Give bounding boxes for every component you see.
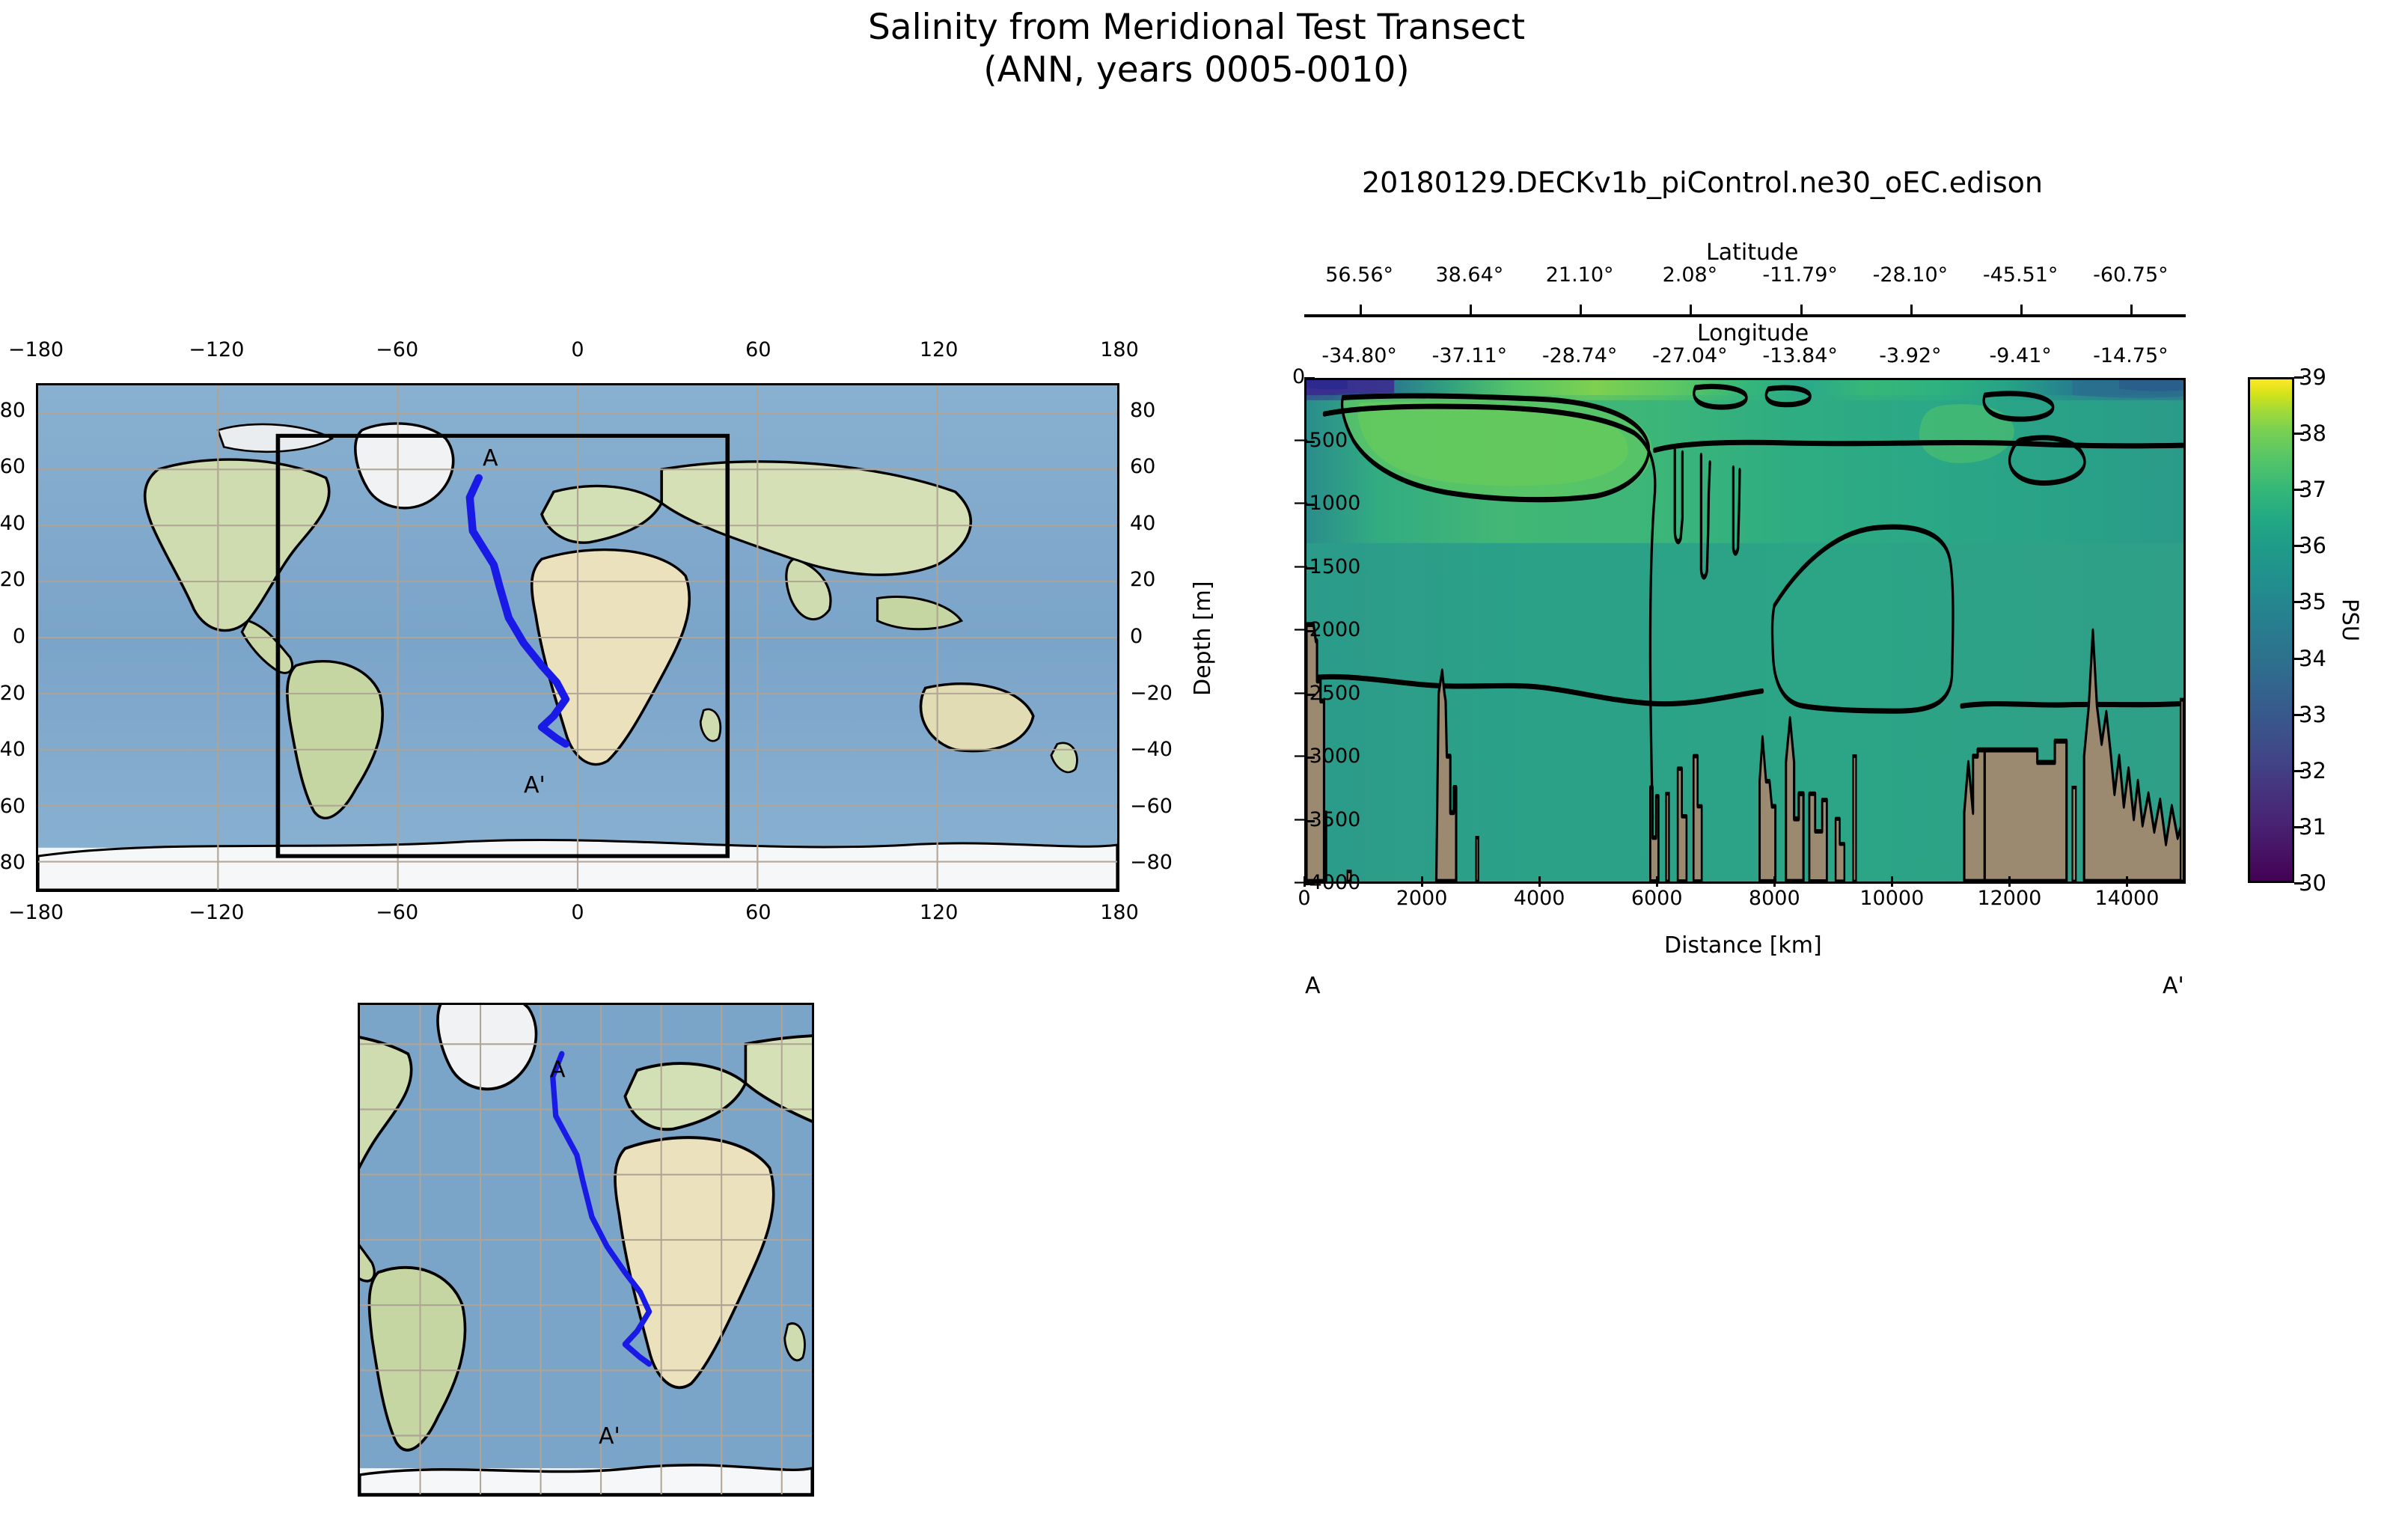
global-map-canvas [38, 385, 1117, 890]
distance-tick: 8000 [1749, 887, 1800, 910]
map-lon-tick-top: −120 [189, 338, 244, 361]
map-lon-tick-top: 120 [920, 338, 959, 361]
global-map-graphic [38, 385, 1117, 890]
tick-mark [1304, 876, 1306, 887]
map-lat-tick-right: −60 [1130, 795, 1173, 818]
colorbar-tick-mark [2294, 601, 2304, 603]
r: −3000 [1292, 745, 1360, 768]
colorbar-tick-mark [2294, 376, 2304, 379]
regional-map-canvas [360, 1005, 812, 1494]
regional-map-graphic [360, 1005, 812, 1494]
latitude-tick: 21.10° [1546, 263, 1614, 287]
inset-transect-start-label: A [550, 1057, 566, 1083]
section-start-label: A [1305, 973, 1321, 999]
map-lon-tick-bottom: 0 [571, 901, 584, 924]
map-lon-tick-top: −180 [8, 338, 64, 361]
cross-section-axes[interactable] [1304, 378, 2186, 884]
map-lat-tick-left: 20 [0, 568, 25, 591]
latitude-tick: 2.08° [1663, 263, 1718, 287]
map-lon-tick-top: 0 [571, 338, 584, 361]
map-lat-tick-left: 80 [0, 399, 25, 422]
r: −2500 [1292, 682, 1360, 705]
distance-tick: 14000 [2095, 887, 2160, 910]
map-transect-end-label: A' [524, 772, 545, 798]
regional-map-axes[interactable] [358, 1003, 814, 1497]
distance-tick: 12000 [1977, 887, 2041, 910]
distance-tick: 2000 [1396, 887, 1448, 910]
colorbar-tick-mark [2294, 545, 2304, 547]
longitude-tick: -34.80° [1321, 344, 1397, 367]
tick-mark [2126, 876, 2128, 887]
distance-tick: 4000 [1514, 887, 1565, 910]
colorbar-tick-mark [2294, 826, 2304, 828]
colorbar-tick-mark [2294, 714, 2304, 716]
map-lon-tick-bottom: 60 [745, 901, 771, 924]
map-lat-tick-left: −60 [0, 795, 25, 818]
map-lon-tick-bottom: −120 [189, 901, 244, 924]
longitude-tick: -14.75° [2093, 344, 2169, 367]
longitude-tick: -9.41° [1989, 344, 2051, 367]
map-lat-tick-right: −80 [1130, 851, 1173, 874]
top-axis-tick-mark [1690, 305, 1692, 314]
top-axis-tick-mark [1580, 305, 1582, 314]
top-axis-spine [1304, 314, 2186, 317]
map-lat-tick-left: −20 [0, 682, 25, 705]
map-lat-tick-left: 0 [13, 625, 25, 648]
tick-mark [1304, 883, 1315, 885]
distance-tick: 6000 [1631, 887, 1683, 910]
latitude-tick: 56.56° [1325, 263, 1393, 287]
colorbar-unit-label: PSU [2338, 599, 2363, 641]
map-lat-tick-right: 0 [1130, 625, 1143, 648]
map-left-lat-ticks: 806040200−20−40−60−80 [0, 383, 36, 892]
top-axis-tick-mark [1910, 305, 1913, 314]
run-name-subtitle: 20180129.DECKv1b_piControl.ne30_oEC.edis… [1362, 166, 2043, 199]
map-lat-tick-left: −80 [0, 851, 25, 874]
tick-mark [1304, 504, 1315, 506]
top-axis-tick-mark [2020, 305, 2023, 314]
salinity-section-graphic [1306, 380, 2183, 881]
tick-mark [1304, 757, 1315, 759]
map-lon-tick-bottom: −60 [376, 901, 418, 924]
global-map-axes[interactable] [36, 383, 1119, 892]
latitude-tick-labels: 56.56°38.64°21.10°2.08°-11.79°-28.10°-45… [1304, 263, 2186, 290]
top-axis-tick-mark [1470, 305, 1472, 314]
colorbar-tick-mark [2294, 882, 2304, 884]
distance-tick: 0 [1298, 887, 1310, 910]
r: −3500 [1292, 808, 1360, 831]
tick-mark [1304, 820, 1315, 822]
tick-mark [1304, 694, 1315, 696]
map-lon-tick-top: 180 [1100, 338, 1139, 361]
distance-tick: 10000 [1859, 887, 1924, 910]
top-axis-tick-mark [1800, 305, 1803, 314]
map-lat-tick-left: 60 [0, 455, 25, 478]
r: −500 [1292, 429, 1348, 452]
tick-mark [1304, 441, 1315, 443]
longitude-tick: -3.92° [1879, 344, 1941, 367]
r: −1000 [1292, 492, 1360, 515]
map-lat-tick-left: 40 [0, 512, 25, 535]
top-axis-tick-mark [1360, 305, 1362, 314]
map-transect-start-label: A [483, 445, 498, 471]
latitude-tick: -11.79° [1762, 263, 1838, 287]
longitude-tick: -27.04° [1652, 344, 1728, 367]
distance-axis-label: Distance [km] [1664, 932, 1822, 959]
map-lon-tick-bottom: 120 [920, 901, 959, 924]
longitude-tick: -37.11° [1432, 344, 1508, 367]
colorbar-tick-mark [2294, 489, 2304, 491]
r: 0 [1292, 365, 1305, 388]
tick-mark [1538, 876, 1541, 887]
map-lon-tick-bottom: −180 [8, 901, 64, 924]
map-top-lon-ticks: −180−120−60060120180 [36, 338, 1119, 368]
map-lat-tick-right: 40 [1130, 512, 1155, 535]
map-lon-tick-bottom: 180 [1100, 901, 1139, 924]
tick-mark [1421, 876, 1423, 887]
distance-tick-labels: 02000400060008000100001200014000 [1304, 887, 2186, 917]
longitude-tick: -28.74° [1542, 344, 1618, 367]
longitude-axis-label: Longitude [1697, 320, 1809, 346]
top-axis-tick-mark [2130, 305, 2133, 314]
map-lat-tick-right: −40 [1130, 738, 1173, 761]
map-bottom-lon-ticks: −180−120−60060120180 [36, 901, 1119, 931]
colorbar-tick-mark [2294, 770, 2304, 772]
tick-mark [1891, 876, 1893, 887]
map-lat-tick-right: 20 [1130, 568, 1155, 591]
figure-title: Salinity from Meridional Test Transect (… [0, 6, 2393, 92]
longitude-tick-labels: -34.80°-37.11°-28.74°-27.04°-13.84°-3.92… [1304, 344, 2186, 371]
latitude-axis-label: Latitude [1706, 239, 1798, 266]
tick-mark [1304, 630, 1315, 632]
tick-mark [1656, 876, 1658, 887]
colorbar-tick-mark [2294, 433, 2304, 435]
inset-transect-end-label: A' [599, 1423, 620, 1449]
map-lat-tick-left: −40 [0, 738, 25, 761]
map-right-lat-ticks: 806040200−20−40−60−80 [1130, 383, 1220, 892]
r: −1500 [1292, 555, 1360, 578]
latitude-tick: -28.10° [1873, 263, 1949, 287]
map-lat-tick-right: −20 [1130, 682, 1173, 705]
tick-mark [1304, 377, 1315, 379]
tick-mark [2008, 876, 2011, 887]
map-lon-tick-top: −60 [376, 338, 418, 361]
map-lat-tick-right: 80 [1130, 399, 1155, 422]
latitude-tick: -60.75° [2093, 263, 2169, 287]
latitude-tick: 38.64° [1435, 263, 1503, 287]
section-end-label: A' [2163, 973, 2184, 999]
depth-tick-labels: 0−500−1000−1500−2000−2500−3000−3500−4000 [1304, 378, 1305, 884]
colorbar-tick-mark [2294, 658, 2304, 660]
latitude-tick: -45.51° [1983, 263, 2059, 287]
longitude-tick: -13.84° [1762, 344, 1838, 367]
map-lon-tick-top: 60 [745, 338, 771, 361]
tick-mark [1773, 876, 1776, 887]
map-lat-tick-right: 60 [1130, 455, 1155, 478]
r: −2000 [1292, 618, 1360, 641]
colorbar-tick-labels: 39383736353433323130 [2248, 377, 2353, 883]
tick-mark [1304, 567, 1315, 569]
